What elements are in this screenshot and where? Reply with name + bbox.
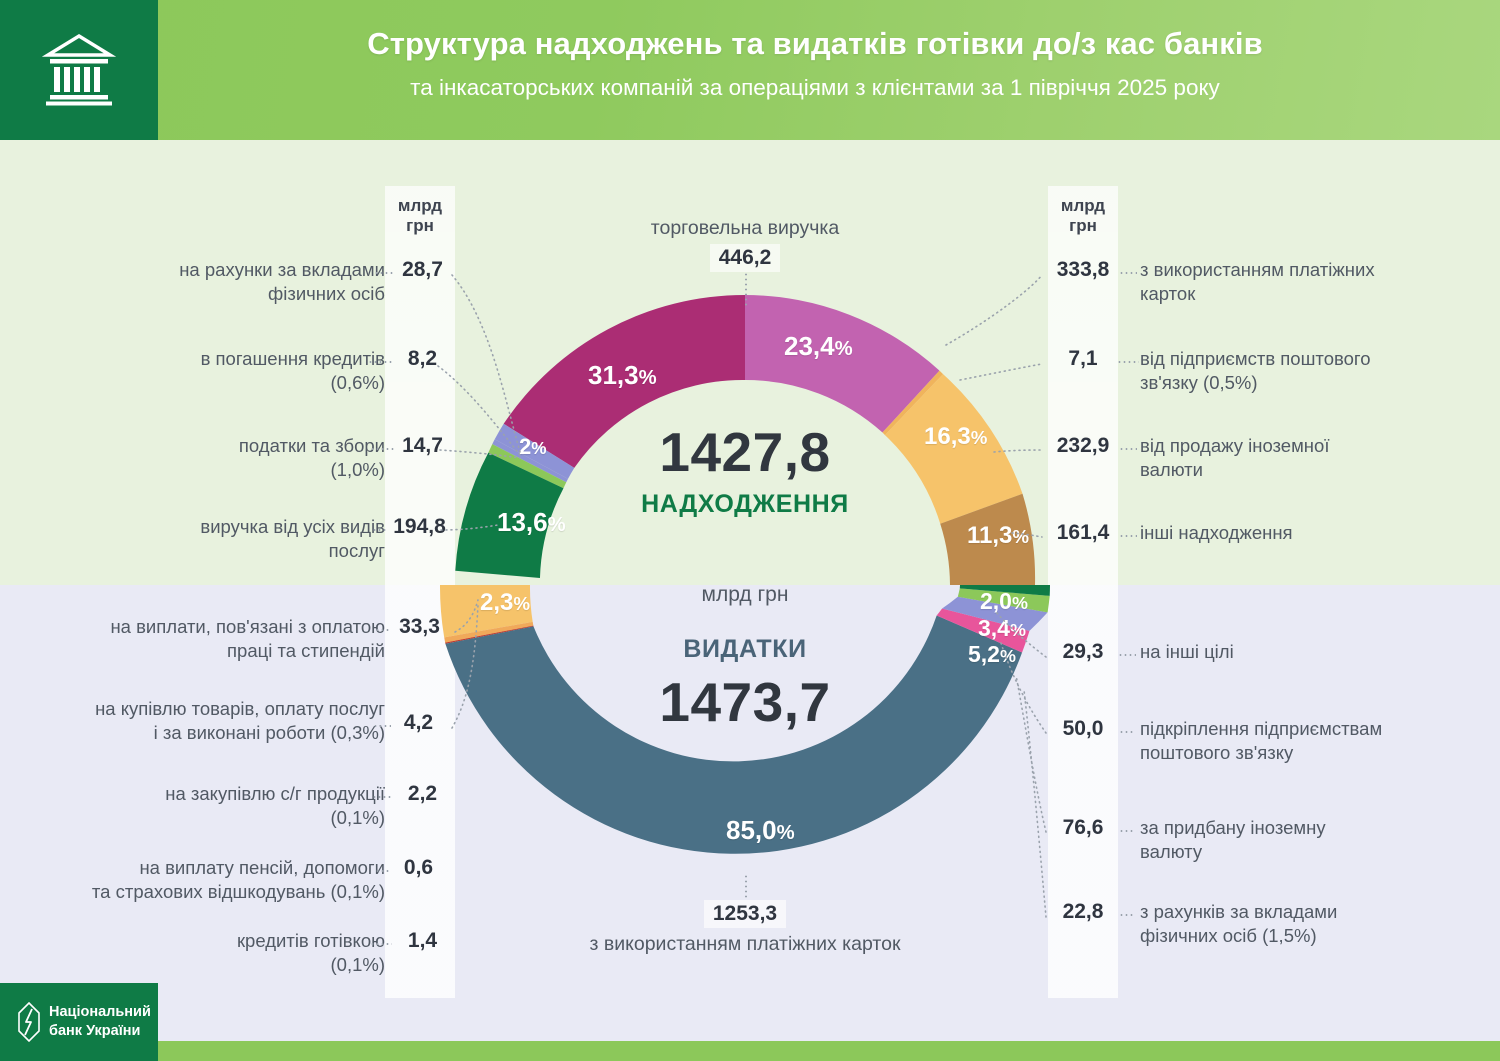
row-value: 4,2	[385, 697, 455, 735]
row-exp-fx: 76,6 за придбану іноземну валюту	[1048, 816, 1488, 863]
right-units-label: млрд грн	[1048, 196, 1118, 236]
header-logo-block	[0, 0, 158, 140]
row-receipts-loans: в погашення кредитів (0,6%) 8,2	[65, 347, 455, 394]
row-value: 161,4	[1048, 521, 1118, 545]
expenditures-center: ВИДАТКИ 1473,7	[430, 635, 1060, 734]
callout-trade-revenue: торговельна виручка 446,2	[535, 216, 955, 272]
row-receipts-cards: 333,8 з використанням платіжних карток	[1048, 258, 1488, 305]
callout-trade-value: 446,2	[710, 244, 781, 272]
row-value: 194,8	[385, 515, 455, 539]
leader-dots-receipts-other	[1119, 535, 1137, 537]
row-exp-pensions: на виплату пенсій, допомоги та страхових…	[18, 856, 455, 903]
row-label: на купівлю товарів, оплату послуг і за в…	[18, 697, 385, 744]
page-title: Структура надходжень та видатків готівки…	[200, 26, 1430, 62]
row-exp-goods: на купівлю товарів, оплату послуг і за в…	[18, 697, 455, 744]
row-exp-cashloans: кредитів готівкою (0,1%) 1,4	[65, 929, 455, 976]
row-label: з використанням платіжних карток	[1118, 258, 1448, 305]
leader-dots-exp-cashloans	[370, 943, 392, 945]
leader-dots-exp-pensions	[375, 870, 391, 872]
row-exp-deposits: 22,8 з рахунків за вкладами фізичних осі…	[1048, 900, 1488, 947]
center-units: млрд грн	[430, 583, 1060, 607]
row-exp-post: 50,0 підкріплення підприємствам поштовог…	[1048, 717, 1488, 764]
row-value: 333,8	[1048, 258, 1118, 282]
row-value: 14,7	[385, 434, 455, 458]
row-value: 28,7	[385, 258, 455, 282]
center-units-label: млрд грн	[430, 583, 1060, 607]
row-value: 8,2	[385, 347, 455, 371]
row-value: 29,3	[1048, 640, 1118, 664]
row-label: за придбану іноземну валюту	[1118, 816, 1448, 863]
row-receipts-other: 161,4 інші надходження	[1048, 521, 1488, 545]
footer-accent-bar	[158, 1041, 1500, 1061]
bank-building-icon	[42, 34, 116, 106]
leader-dots-receipts-cards	[1119, 272, 1137, 274]
row-label: з рахунків за вкладами фізичних осіб (1,…	[1118, 900, 1448, 947]
footer-logo-text: Національний банк України	[49, 1003, 151, 1040]
leader-dots-exp-goods	[373, 725, 391, 727]
row-label: від підприємств поштового зв'язку (0,5%)	[1118, 347, 1448, 394]
row-label: кредитів готівкою (0,1%)	[65, 929, 385, 976]
row-label: від продажу іноземної валюти	[1118, 434, 1448, 481]
leader-dots-exp-cards	[745, 874, 747, 900]
row-label: виручка від усіх видів послуг	[55, 515, 385, 562]
leader-dots-exp-deposits	[1119, 914, 1135, 916]
row-value: 22,8	[1048, 900, 1118, 924]
row-value: 0,6	[385, 856, 455, 880]
leader-dots-receipts-loans	[368, 361, 394, 363]
nbu-mark-icon	[18, 1002, 40, 1042]
row-exp-wages: на виплати, пов'язані з оплатою праці та…	[30, 615, 455, 662]
leader-dots-trade	[745, 272, 747, 306]
leader-dots-exp-wages	[375, 629, 389, 631]
leader-dots-receipts-fx	[1119, 448, 1137, 450]
row-label: на закупівлю с/г продукції (0,1%)	[65, 782, 385, 829]
row-label: на виплату пенсій, допомоги та страхових…	[18, 856, 385, 903]
row-receipts-services: виручка від усіх видів послуг 194,8	[55, 515, 455, 562]
row-label: податки та збори (1,0%)	[65, 434, 385, 481]
row-value: 76,6	[1048, 816, 1118, 840]
header-text-block: Структура надходжень та видатків готівки…	[200, 26, 1430, 101]
leader-dots-exp-post	[1119, 731, 1135, 733]
row-receipts-post: 7,1 від підприємств поштового зв'язку (0…	[1048, 347, 1488, 394]
row-value: 7,1	[1048, 347, 1118, 371]
row-value: 33,3	[385, 615, 455, 639]
leader-dots-exp-fx	[1119, 830, 1135, 832]
leader-dots-receipts-services	[372, 529, 388, 531]
callout-exp-cards: 1253,3 з використанням платіжних карток	[515, 900, 975, 956]
row-value: 1,4	[385, 929, 455, 953]
row-receipts-taxes: податки та збори (1,0%) 14,7	[65, 434, 455, 481]
leader-dots-exp-agri	[372, 796, 392, 798]
left-units-label: млрд грн	[385, 196, 455, 236]
leader-dots-receipts-deposits	[374, 272, 394, 274]
row-label: на інші цілі	[1118, 640, 1448, 664]
infographic-page: Структура надходжень та видатків готівки…	[0, 0, 1500, 1061]
callout-exp-cards-value: 1253,3	[704, 900, 786, 928]
leader-dots-exp-other	[1118, 654, 1136, 656]
leader-dots-receipts-post	[1117, 361, 1139, 363]
callout-trade-label: торговельна виручка	[535, 216, 955, 240]
row-value: 50,0	[1048, 717, 1118, 741]
leader-dots-receipts-taxes	[370, 448, 394, 450]
expenditures-caption: ВИДАТКИ	[430, 635, 1060, 664]
page-subtitle: та інкасаторських компаній за операціями…	[200, 74, 1430, 101]
row-value: 2,2	[385, 782, 455, 806]
row-label: інші надходження	[1118, 521, 1448, 545]
row-exp-other: 29,3 на інші цілі	[1048, 640, 1488, 664]
row-receipts-fx: 232,9 від продажу іноземної валюти	[1048, 434, 1488, 481]
row-exp-agri: на закупівлю с/г продукції (0,1%) 2,2	[65, 782, 455, 829]
callout-exp-cards-label: з використанням платіжних карток	[515, 932, 975, 956]
slice-receipts-cards	[504, 295, 745, 468]
row-label: підкріплення підприємствам поштового зв'…	[1118, 717, 1448, 764]
row-label: в погашення кредитів (0,6%)	[65, 347, 385, 394]
row-label: на виплати, пов'язані з оплатою праці та…	[30, 615, 385, 662]
footer-logo: Національний банк України	[0, 983, 158, 1061]
row-label: на рахунки за вкладами фізичних осіб	[65, 258, 385, 305]
page-header: Структура надходжень та видатків готівки…	[0, 0, 1500, 140]
row-receipts-deposits: на рахунки за вкладами фізичних осіб 28,…	[65, 258, 455, 305]
expenditures-total: 1473,7	[430, 670, 1060, 734]
row-value: 232,9	[1048, 434, 1118, 458]
